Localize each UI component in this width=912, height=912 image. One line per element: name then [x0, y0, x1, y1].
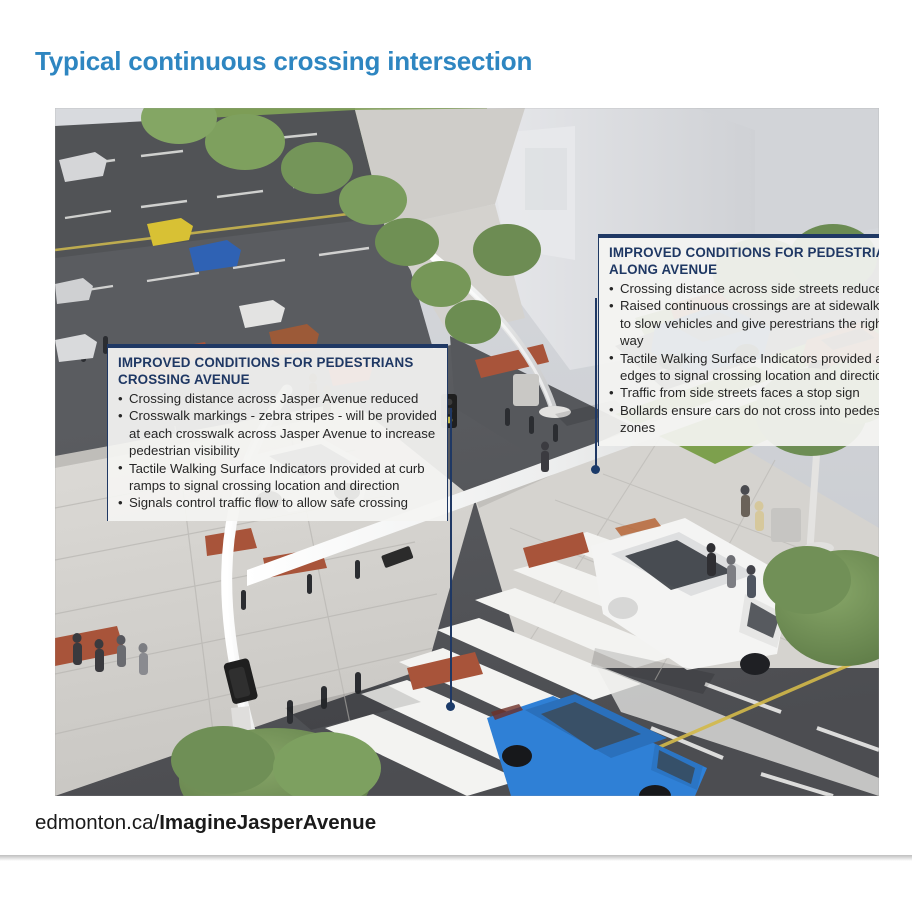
tree-center-left [473, 224, 541, 276]
list-item: Signals control traffic flow to allow sa… [118, 494, 437, 511]
list-item: Crossing distance across side streets re… [609, 280, 879, 297]
utility-cabinet-right [771, 508, 801, 542]
leader-dot-crossing-avenue [446, 702, 455, 711]
callout-crossing-avenue-title: IMPROVED CONDITIONS FOR PEDESTRIANS CROS… [118, 355, 437, 388]
callout-crossing-avenue-bullets: Crossing distance across Jasper Avenue r… [118, 390, 437, 512]
slide: Typical continuous crossing intersection [0, 0, 912, 858]
signal-cabinet-center [513, 374, 539, 406]
callout-along-avenue-title: IMPROVED CONDITIONS FOR PEDESTRIANS ALON… [609, 245, 879, 278]
pedestrian-crossing-side-street [541, 442, 549, 473]
list-item: Tactile Walking Surface Indicators provi… [118, 460, 437, 495]
footer-url: edmonton.ca/ImagineJasperAvenue [35, 811, 376, 835]
leader-line-crossing-avenue [450, 408, 452, 707]
intersection-rendering: IMPROVED CONDITIONS FOR PEDESTRIANS ALON… [55, 108, 879, 796]
list-item: Crossing distance across Jasper Avenue r… [118, 390, 437, 407]
callout-along-avenue: IMPROVED CONDITIONS FOR PEDESTRIANS ALON… [598, 234, 879, 446]
leader-line-along-avenue [595, 298, 597, 470]
callout-along-avenue-bullets: Crossing distance across side streets re… [609, 280, 879, 437]
list-item: Raised continuous crossings are at sidew… [609, 297, 879, 349]
list-item: Bollards ensure cars do not cross into p… [609, 402, 879, 437]
page-title: Typical continuous crossing intersection [35, 46, 532, 77]
callout-crossing-avenue: IMPROVED CONDITIONS FOR PEDESTRIANS CROS… [107, 344, 448, 521]
tree-bottom-left [171, 726, 381, 796]
leader-dot-along-avenue [591, 465, 600, 474]
footer-url-prefix: edmonton.ca/ [35, 811, 159, 834]
list-item: Crosswalk markings - zebra stripes - wil… [118, 407, 437, 459]
list-item: Tactile Walking Surface Indicators provi… [609, 350, 879, 385]
footer-url-campaign: ImagineJasperAvenue [159, 811, 376, 834]
page-background-below-slide [0, 861, 912, 912]
list-item: Traffic from side streets faces a stop s… [609, 384, 879, 401]
